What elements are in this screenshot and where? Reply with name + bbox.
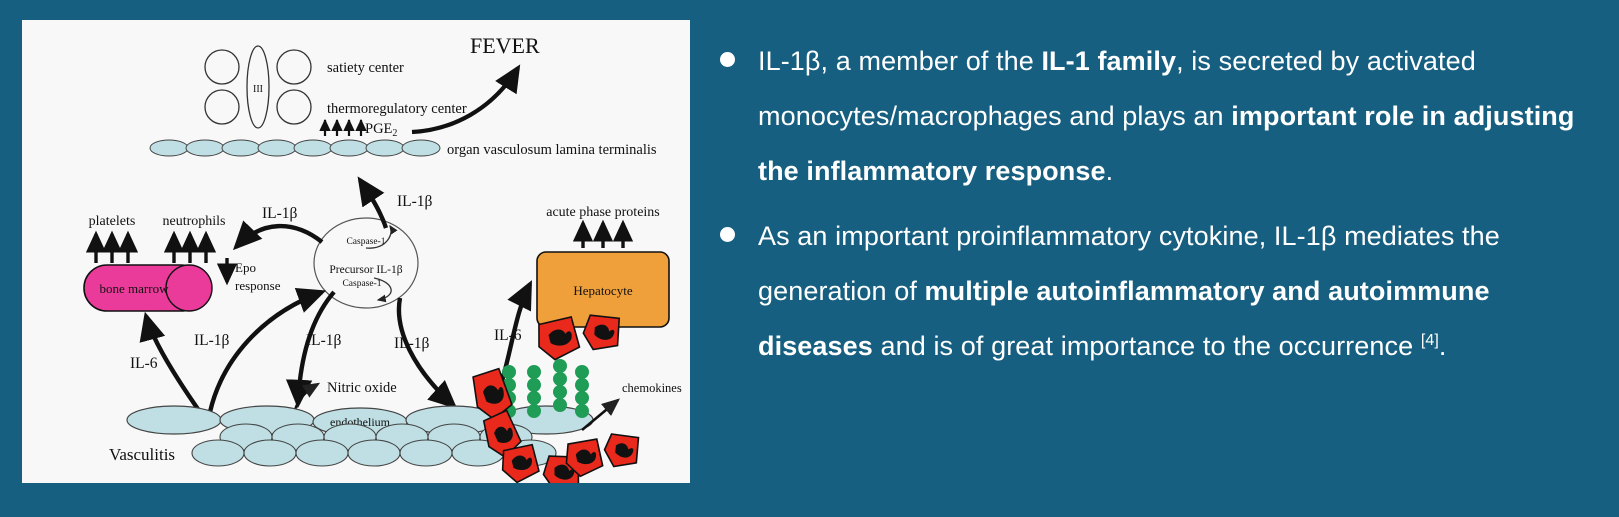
text-panel: IL-1β, a member of the IL-1 family, is s… — [706, 34, 1606, 434]
ovlt-label: organ vasculosum lamina terminalis — [447, 142, 657, 158]
hepatocyte-label: Hepatocyte — [573, 283, 632, 298]
il1b-pathway-diagram: III satiety center thermoregulatory cent… — [22, 20, 690, 483]
slide-root: III satiety center thermoregulatory cent… — [0, 0, 1619, 517]
pge2-arrows — [325, 120, 361, 136]
pge2-to-fever-arrow — [412, 68, 518, 132]
il1b-lower-right-label: IL-1β — [394, 335, 430, 352]
bullet-dot-icon — [720, 227, 735, 242]
caspase1-bottom-label: Caspase-1 — [342, 279, 381, 289]
fever-label: FEVER — [470, 33, 540, 58]
epo-label-line2: response — [235, 278, 281, 293]
bullet-dot-icon — [720, 52, 735, 67]
il1b-endothelium-right-arrow — [399, 298, 454, 406]
bullet-text-2: As an important proinflammatory cytokine… — [758, 209, 1606, 374]
il1b-to-brain-label: IL-1β — [397, 193, 433, 210]
neutrophils-label: neutrophils — [163, 214, 226, 229]
il1b-to-marrow-label: IL-1β — [262, 205, 298, 222]
pge2-label: PGE2 — [365, 121, 397, 139]
acute-phase-arrows — [583, 223, 623, 248]
precursor-il1b-label: Precursor IL-1β — [329, 264, 402, 276]
caspase1-top-label: Caspase-1 — [346, 237, 385, 247]
bullet-text-1: IL-1β, a member of the IL-1 family, is s… — [758, 34, 1606, 199]
il1b-to-marrow-arrow — [236, 226, 322, 247]
nitric-oxide-label: Nitric oxide — [327, 380, 397, 396]
figure-card: III satiety center thermoregulatory cent… — [22, 20, 690, 483]
neutrophil-arrows — [174, 234, 206, 263]
platelets-label: platelets — [89, 214, 136, 229]
bone-marrow-label: bone marrow — [100, 281, 170, 296]
bullet-item-1: IL-1β, a member of the IL-1 family, is s… — [706, 34, 1606, 199]
ovlt-endothelium-row — [150, 140, 440, 156]
bone-marrow-group: bone marrow — [84, 265, 212, 311]
thermoregulatory-center-label: thermoregulatory center — [327, 101, 467, 117]
il6-left-label: IL-6 — [130, 355, 158, 372]
il1b-to-brain-arrow — [360, 180, 386, 228]
vasculitis-label: Vasculitis — [109, 445, 175, 464]
il1b-lower-mid-label: IL-1β — [306, 332, 342, 349]
il1b-lower-left-label: IL-1β — [194, 332, 230, 349]
third-ventricle-label: III — [253, 84, 263, 95]
platelet-arrows — [96, 234, 128, 263]
bullet-item-2: As an important proinflammatory cytokine… — [706, 209, 1606, 374]
acute-phase-proteins-label: acute phase proteins — [546, 205, 660, 220]
il6-right-label: IL-6 — [494, 327, 522, 344]
epo-label-line1: Epo — [235, 260, 256, 275]
chemokines-label: chemokines — [622, 381, 682, 395]
satiety-center-label: satiety center — [327, 60, 404, 76]
